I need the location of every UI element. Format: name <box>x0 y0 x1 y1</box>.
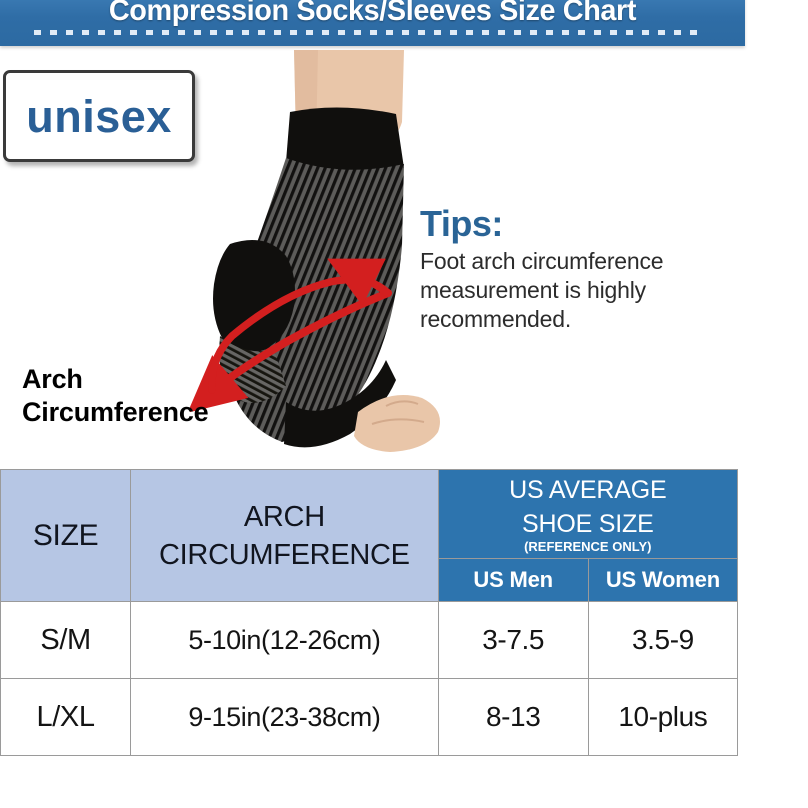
cell-us-women: 10-plus <box>588 679 737 756</box>
column-header-us-average-shoe-size: US AVERAGE SHOE SIZE (REFERENCE ONLY) <box>438 470 737 559</box>
arch-callout-line2: Circumference <box>22 396 208 429</box>
shoe-head-line2: SHOE SIZE <box>439 504 737 538</box>
cell-arch: 9-15in(23-38cm) <box>131 679 438 756</box>
shoe-head-note: (REFERENCE ONLY) <box>439 538 737 558</box>
column-header-us-men: US Men <box>438 559 588 602</box>
tips-body-text: Foot arch circumference measurement is h… <box>420 247 742 334</box>
cell-size: L/XL <box>1 679 131 756</box>
column-header-arch-circumference: ARCH CIRCUMFERENCE <box>131 470 438 602</box>
cell-us-men: 3-7.5 <box>438 602 588 679</box>
arch-head-line2: CIRCUMFERENCE <box>131 536 437 574</box>
arch-callout-line1: Arch <box>22 363 208 396</box>
column-header-us-women: US Women <box>588 559 737 602</box>
page-title: Compression Socks/Sleeves Size Chart <box>15 0 730 26</box>
cell-size: S/M <box>1 602 131 679</box>
table-row: L/XL 9-15in(23-38cm) 8-13 10-plus <box>1 679 738 756</box>
cell-arch: 5-10in(12-26cm) <box>131 602 438 679</box>
tips-heading: Tips: <box>420 204 750 244</box>
cell-us-women: 3.5-9 <box>588 602 737 679</box>
header-banner: Compression Socks/Sleeves Size Chart <box>0 0 745 46</box>
tips-block: Tips: Foot arch circumference measuremen… <box>420 204 750 334</box>
arch-circumference-callout: Arch Circumference <box>22 363 208 429</box>
size-chart-page: Compression Socks/Sleeves Size Chart uni… <box>0 0 808 808</box>
column-header-size: SIZE <box>1 470 131 602</box>
table-row: S/M 5-10in(12-26cm) 3-7.5 3.5-9 <box>1 602 738 679</box>
size-chart-table: SIZE ARCH CIRCUMFERENCE US AVERAGE SHOE … <box>0 469 738 756</box>
arch-head-line1: ARCH <box>131 498 437 536</box>
dotted-divider <box>34 30 706 35</box>
unisex-badge: unisex <box>3 70 195 162</box>
unisex-label: unisex <box>26 94 172 139</box>
cell-us-men: 8-13 <box>438 679 588 756</box>
table-header-row-main: SIZE ARCH CIRCUMFERENCE US AVERAGE SHOE … <box>1 470 738 559</box>
shoe-head-line1: US AVERAGE <box>439 470 737 504</box>
